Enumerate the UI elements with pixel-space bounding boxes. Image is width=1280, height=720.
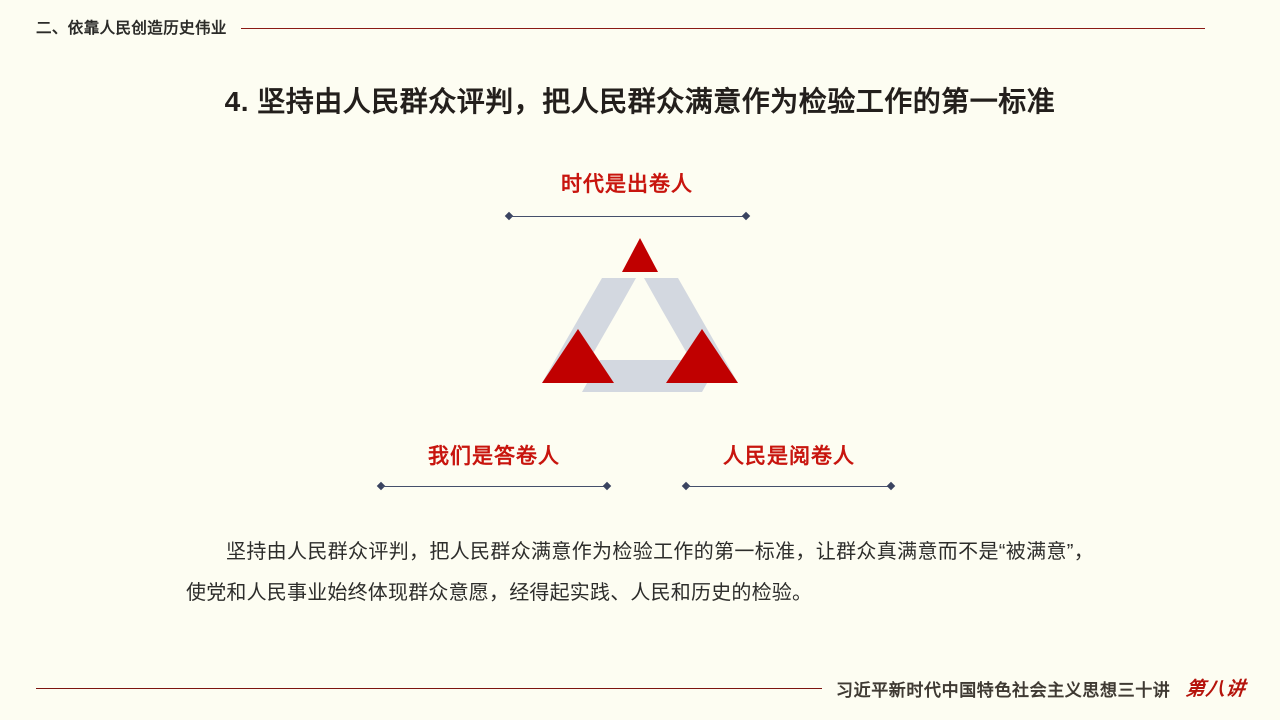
diagram-connector-bottom-right [683,482,894,490]
connector-bar [687,486,890,487]
diamond-cap-icon [603,482,611,490]
footer-series-title: 习近平新时代中国特色社会主义思想三十讲 [836,676,1170,701]
diagram-node-label-bottom-right: 人民是阅卷人 [639,440,939,470]
lecture-badge: 第八讲 [1185,674,1248,701]
relationship-diagram: 时代是出卷人 [0,150,1280,500]
connector-bar [382,486,606,487]
diagram-connector-top [506,212,749,220]
header-divider-line [241,28,1205,29]
triangle-recycle-icon [540,238,740,398]
diagram-node-label-top: 时代是出卷人 [477,168,777,198]
body-paragraph: 坚持由人民群众评判，把人民群众满意作为检验工作的第一标准，让群众真满意而不是“被… [186,532,1094,614]
diamond-cap-icon [887,482,895,490]
connector-bar [510,216,745,217]
slide-header: 二、依靠人民创造历史伟业 [0,14,1280,40]
page-title: 4. 坚持由人民群众评判，把人民群众满意作为检验工作的第一标准 [0,80,1280,120]
slide-footer: 习近平新时代中国特色社会主义思想三十讲 第八讲 [0,676,1280,720]
section-label: 二、依靠人民创造历史伟业 [36,16,227,38]
footer-divider-line [36,688,822,689]
diagram-connector-bottom-left [378,482,610,490]
slide-canvas: 二、依靠人民创造历史伟业 4. 坚持由人民群众评判，把人民群众满意作为检验工作的… [0,0,1280,720]
diagram-node-label-bottom-left: 我们是答卷人 [344,440,644,470]
diamond-cap-icon [742,212,750,220]
